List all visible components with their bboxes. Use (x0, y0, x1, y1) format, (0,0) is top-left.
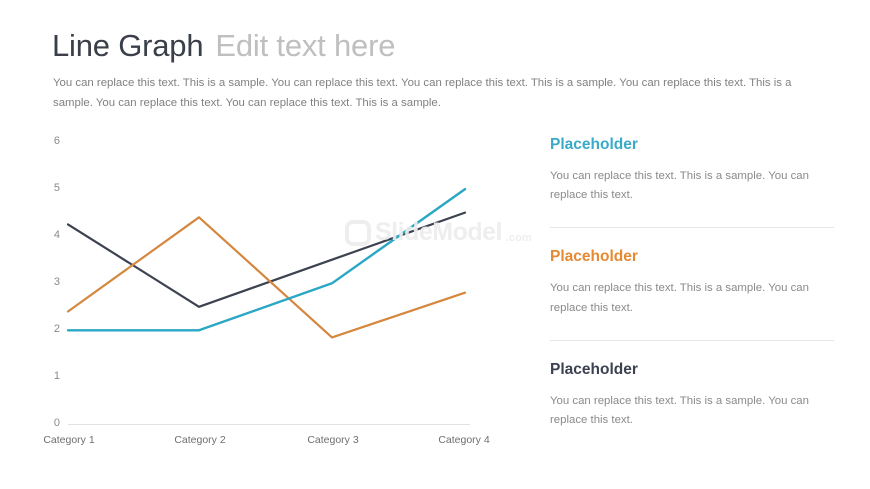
series-line-dark (68, 213, 465, 307)
placeholder-block-orange: Placeholder You can replace this text. T… (550, 248, 834, 317)
placeholder-block-dark: Placeholder You can replace this text. T… (550, 361, 834, 430)
slide-canvas: Line Graph Edit text here You can replac… (0, 0, 870, 489)
x-tick-category-1: Category 1 (9, 434, 129, 446)
placeholder-body-dark[interactable]: You can replace this text. This is a sam… (550, 392, 834, 430)
placeholder-body-orange[interactable]: You can replace this text. This is a sam… (550, 279, 834, 317)
placeholder-list: Placeholder You can replace this text. T… (550, 136, 834, 430)
series-line-orange (68, 217, 465, 337)
divider-1 (550, 227, 834, 228)
line-chart: 6 5 4 3 2 1 0 Category 1 Category 2 Cate… (0, 0, 520, 489)
series-line-teal (68, 189, 465, 330)
placeholder-body-teal[interactable]: You can replace this text. This is a sam… (550, 167, 834, 205)
placeholder-heading-teal[interactable]: Placeholder (550, 136, 834, 153)
placeholder-block-teal: Placeholder You can replace this text. T… (550, 136, 834, 205)
placeholder-heading-dark[interactable]: Placeholder (550, 361, 834, 378)
chart-plot-area (0, 0, 520, 460)
placeholder-heading-orange[interactable]: Placeholder (550, 248, 834, 265)
x-tick-category-3: Category 3 (273, 434, 393, 446)
x-tick-category-2: Category 2 (140, 434, 260, 446)
x-tick-category-4: Category 4 (404, 434, 524, 446)
divider-2 (550, 340, 834, 341)
